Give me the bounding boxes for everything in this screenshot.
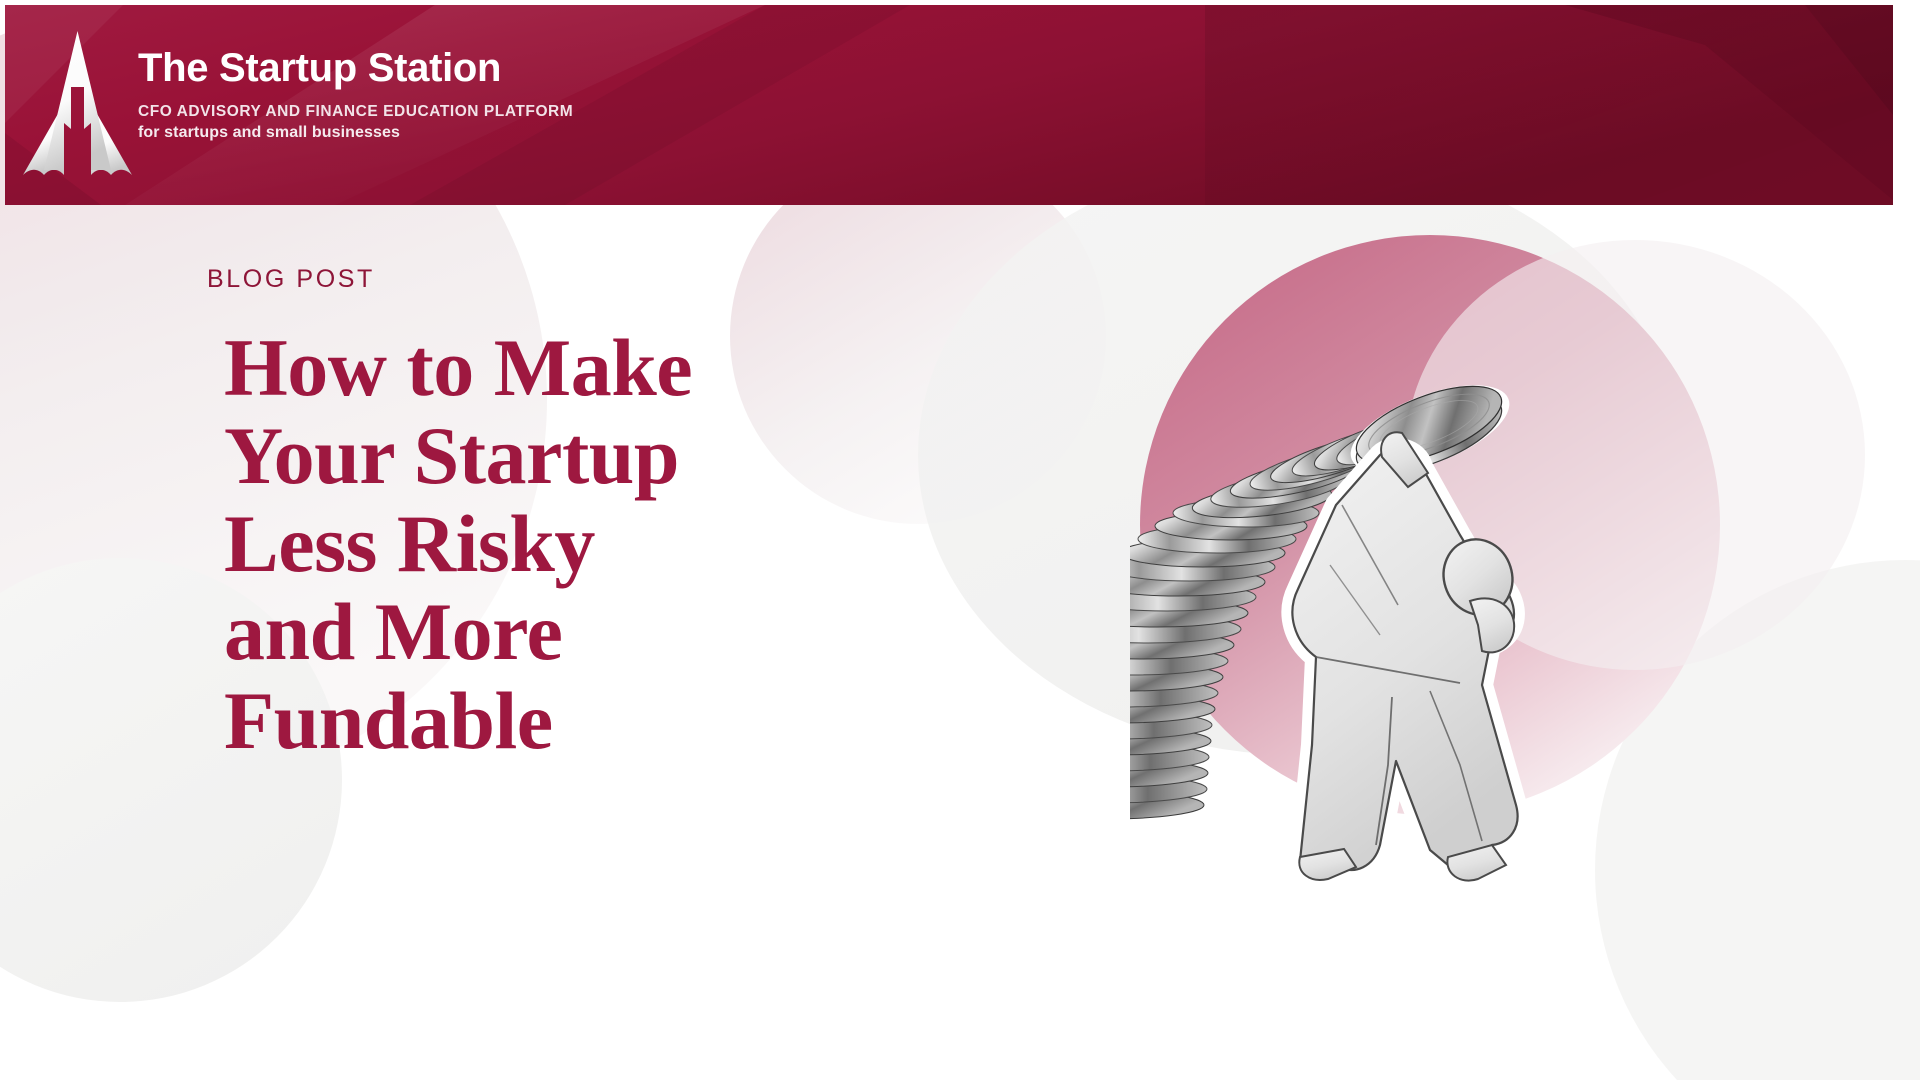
banner-vignette [1205, 5, 1893, 205]
page-title: How to Make Your Startup Less Risky and … [224, 324, 729, 765]
rocket-arrow-logo-icon [15, 27, 140, 185]
headline-column: BLOG POST How to Make Your Startup Less … [207, 267, 847, 765]
brand-block: The Startup Station CFO ADVISORY AND FIN… [138, 47, 1038, 143]
site-banner: The Startup Station CFO ADVISORY AND FIN… [5, 5, 1893, 205]
content-type-label: BLOG POST [207, 267, 847, 292]
brand-title: The Startup Station [138, 47, 1038, 89]
brand-tagline-secondary: for startups and small businesses [138, 123, 1038, 143]
hero-artwork [1130, 205, 1920, 1080]
brand-tagline-primary: CFO ADVISORY AND FINANCE EDUCATION PLATF… [138, 102, 1038, 121]
main-content: BLOG POST How to Make Your Startup Less … [0, 205, 1920, 1080]
